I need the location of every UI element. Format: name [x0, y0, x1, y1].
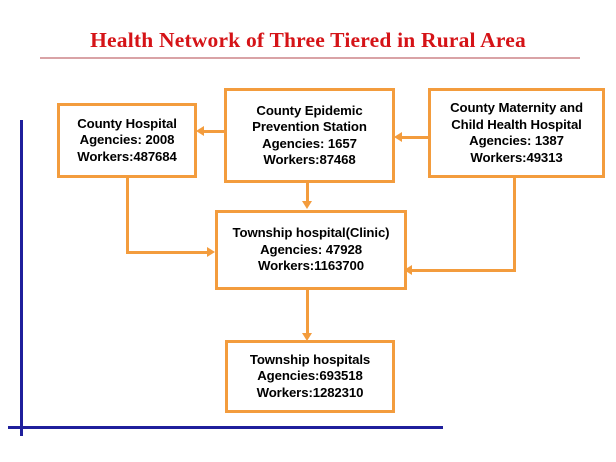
- diagram-slide: Health Network of Three Tiered in Rural …: [0, 0, 616, 462]
- arrowhead-maternity-to-epidemic: [394, 132, 402, 142]
- node-township-hospitals[interactable]: Township hospitals Agencies:693518 Worke…: [225, 340, 395, 413]
- node-county-hospital[interactable]: County Hospital Agencies: 2008 Workers:4…: [57, 103, 197, 178]
- node-township-hospitals-line-1: Township hospitals: [250, 352, 370, 369]
- connector-county-hospital-down: [126, 178, 129, 253]
- arrowhead-epidemic-to-county-hospital: [196, 126, 204, 136]
- connector-clinic-to-township-hospitals: [306, 290, 309, 337]
- node-maternity-workers: Workers:49313: [470, 150, 562, 167]
- node-epidemic-agencies: Agencies: 1657: [262, 136, 357, 153]
- title-divider: [40, 57, 580, 59]
- connector-maternity-to-clinic: [412, 269, 516, 272]
- node-township-hospital-clinic[interactable]: Township hospital(Clinic) Agencies: 4792…: [215, 210, 407, 290]
- node-epidemic-line-2: Prevention Station: [252, 119, 367, 136]
- node-clinic-agencies: Agencies: 47928: [260, 242, 362, 259]
- node-epidemic-line-1: County Epidemic: [256, 103, 362, 120]
- node-clinic-workers: Workers:1163700: [258, 258, 364, 275]
- horizontal-axis-line: [8, 426, 443, 429]
- node-clinic-line-1: Township hospital(Clinic): [233, 225, 390, 242]
- connector-maternity-down: [513, 178, 516, 272]
- node-maternity-line-2: Child Health Hospital: [451, 117, 582, 134]
- vertical-axis-line: [20, 120, 23, 436]
- node-epidemic-workers: Workers:87468: [263, 152, 355, 169]
- node-township-hospitals-agencies: Agencies:693518: [257, 368, 363, 385]
- connector-maternity-to-epidemic: [398, 136, 429, 139]
- node-township-hospitals-workers: Workers:1282310: [257, 385, 364, 402]
- node-maternity-agencies: Agencies: 1387: [469, 133, 564, 150]
- node-county-epidemic-prevention-station[interactable]: County Epidemic Prevention Station Agenc…: [224, 88, 395, 183]
- connector-county-hospital-to-clinic: [126, 251, 211, 254]
- node-maternity-line-1: County Maternity and: [450, 100, 583, 117]
- node-county-hospital-agencies: Agencies: 2008: [80, 132, 175, 149]
- node-county-maternity-child-health-hospital[interactable]: County Maternity and Child Health Hospit…: [428, 88, 605, 178]
- arrowhead-county-hospital-to-clinic: [207, 247, 215, 257]
- arrowhead-epidemic-to-clinic: [302, 201, 312, 209]
- page-title: Health Network of Three Tiered in Rural …: [0, 28, 616, 53]
- node-county-hospital-line-1: County Hospital: [77, 116, 177, 133]
- node-county-hospital-workers: Workers:487684: [77, 149, 177, 166]
